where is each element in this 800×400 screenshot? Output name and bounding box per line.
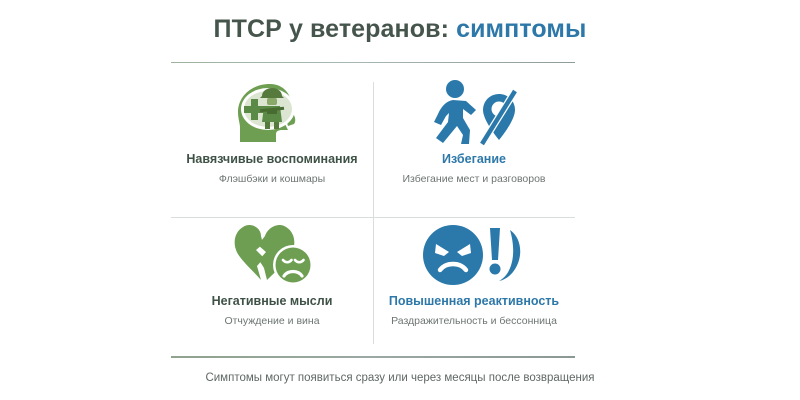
quadrant-hyperarousal: Повышенная реактивность Раздражительност… <box>373 218 575 354</box>
quadrant-intrusive-memories: Навязчивые воспоминания Флэшбэки и кошма… <box>171 76 373 212</box>
walking-person-with-crossed-location-pin-icon <box>422 76 526 150</box>
symptom-grid: Навязчивые воспоминания Флэшбэки и кошма… <box>171 76 575 348</box>
quadrant-heading: Негативные мысли <box>212 294 333 309</box>
quadrant-heading: Избегание <box>442 152 506 167</box>
quadrant-negative-thoughts: Негативные мысли Отчуждение и вина <box>171 218 373 354</box>
footer-note: Симптомы могут появиться сразу или через… <box>0 371 800 386</box>
head-with-soldier-memory-icon <box>224 76 320 150</box>
title-accent-text: симптомы <box>456 15 586 43</box>
ptsd-symptoms-infographic: ПТСР у ветеранов: симптомы <box>0 0 800 400</box>
page-title: ПТСР у ветеранов: симптомы <box>0 14 800 44</box>
title-divider-rule <box>171 62 575 63</box>
footer-divider-rule <box>171 356 575 358</box>
quadrant-subtitle: Избегание мест и разговоров <box>402 172 545 186</box>
quadrant-subtitle: Раздражительность и бессонница <box>391 314 557 328</box>
quadrant-avoidance: Избегание Избегание мест и разговоров <box>373 76 575 212</box>
angry-face-exclamation-moon-icon <box>422 218 526 292</box>
broken-heart-with-sad-face-icon <box>220 218 324 292</box>
title-block: ПТСР у ветеранов: симптомы <box>0 14 800 44</box>
quadrant-heading: Повышенная реактивность <box>389 294 559 309</box>
quadrant-subtitle: Флэшбэки и кошмары <box>219 172 325 186</box>
title-main-text: ПТСР у ветеранов: <box>214 15 449 43</box>
quadrant-subtitle: Отчуждение и вина <box>224 314 319 328</box>
quadrant-heading: Навязчивые воспоминания <box>186 152 357 167</box>
